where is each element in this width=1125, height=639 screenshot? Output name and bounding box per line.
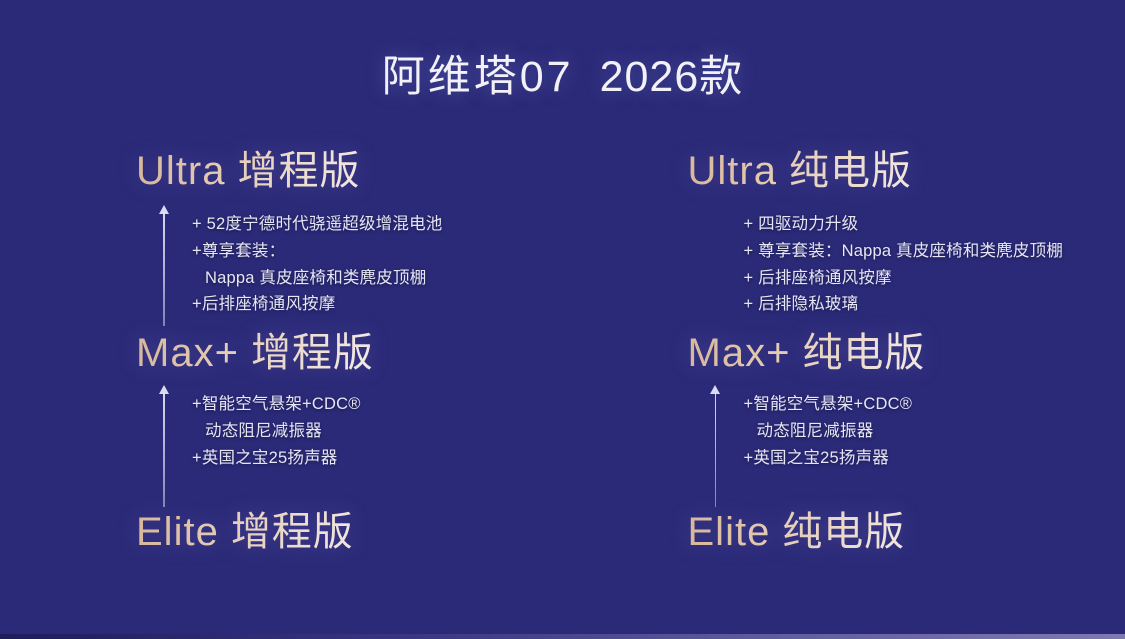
tier-name-ultra-ev: Ultra纯电版	[688, 148, 1125, 195]
tier-name-ultra-range: Ultra增程版	[136, 148, 563, 195]
tier-name-cn: 纯电版	[802, 331, 925, 375]
tier-name-cn: 增程版	[237, 149, 360, 193]
feature-list-ultra-ev: + 四驱动力升级+ 尊享套装：Nappa 真皮座椅和类麂皮顶棚+ 后排座椅通风按…	[688, 211, 1125, 318]
feature-list-max-plus-range: +智能空气悬架+CDC®动态阻尼减振器+英国之宝25扬声器	[136, 391, 563, 471]
feature-block-max-plus-ev: +智能空气悬架+CDC®动态阻尼减振器+英国之宝25扬声器	[688, 377, 1125, 509]
feature-item: 动态阻尼减振器	[744, 418, 1125, 445]
feature-block-ultra-ev: + 四驱动力升级+ 尊享套装：Nappa 真皮座椅和类麂皮顶棚+ 后排座椅通风按…	[688, 195, 1125, 328]
tier-name-max-plus-ev: Max+纯电版	[688, 330, 1125, 377]
feature-item: + 尊享套装：Nappa 真皮座椅和类麂皮顶棚	[744, 238, 1125, 265]
feature-item: +尊享套装：	[192, 238, 563, 265]
tier-name-en: Elite	[688, 510, 771, 554]
tier-spacer	[688, 556, 1125, 570]
tier-name-elite-range: Elite增程版	[136, 509, 563, 556]
page-title: 阿维塔072026款	[0, 42, 1125, 104]
feature-item: +智能空气悬架+CDC®	[192, 391, 563, 418]
tier-name-cn: 增程版	[231, 510, 354, 554]
feature-item: +英国之宝25扬声器	[192, 445, 563, 472]
feature-list-max-plus-ev: +智能空气悬架+CDC®动态阻尼减振器+英国之宝25扬声器	[688, 391, 1125, 471]
tier-ultra-ev[interactable]: Ultra纯电版+ 四驱动力升级+ 尊享套装：Nappa 真皮座椅和类麂皮顶棚+…	[688, 148, 1125, 328]
tier-name-en: Elite	[136, 510, 219, 554]
tier-name-en: Ultra	[688, 149, 777, 193]
tier-name-cn: 纯电版	[782, 510, 905, 554]
tier-name-en: Max+	[136, 331, 239, 375]
feature-item: + 52度宁德时代骁遥超级增混电池	[192, 211, 563, 238]
slide-root: 阿维塔072026款 Ultra增程版+ 52度宁德时代骁遥超级增混电池+尊享套…	[0, 0, 1125, 639]
page-title-model: 阿维塔07	[382, 53, 574, 101]
feature-block-max-plus-range: +智能空气悬架+CDC®动态阻尼减振器+英国之宝25扬声器	[136, 377, 563, 509]
tier-ultra-range[interactable]: Ultra增程版+ 52度宁德时代骁遥超级增混电池+尊享套装：Nappa 真皮座…	[136, 148, 563, 328]
feature-item: Nappa 真皮座椅和类麂皮顶棚	[192, 265, 563, 292]
column-range-extender: Ultra增程版+ 52度宁德时代骁遥超级增混电池+尊享套装：Nappa 真皮座…	[0, 148, 563, 618]
tier-max-plus-range[interactable]: Max+增程版+智能空气悬架+CDC®动态阻尼减振器+英国之宝25扬声器	[136, 330, 563, 509]
feature-item: 动态阻尼减振器	[192, 418, 563, 445]
feature-item: + 后排座椅通风按摩	[744, 265, 1125, 292]
tier-name-max-plus-range: Max+增程版	[136, 330, 563, 377]
feature-list-ultra-range: + 52度宁德时代骁遥超级增混电池+尊享套装：Nappa 真皮座椅和类麂皮顶棚+…	[136, 211, 563, 318]
tier-name-cn: 纯电版	[789, 149, 912, 193]
feature-item: +智能空气悬架+CDC®	[744, 391, 1125, 418]
tier-elite-ev[interactable]: Elite纯电版	[688, 509, 1125, 570]
feature-item: + 四驱动力升级	[744, 211, 1125, 238]
trim-comparison: Ultra增程版+ 52度宁德时代骁遥超级增混电池+尊享套装：Nappa 真皮座…	[0, 148, 1125, 618]
tier-name-elite-ev: Elite纯电版	[688, 509, 1125, 556]
tier-elite-range[interactable]: Elite增程版	[136, 509, 563, 570]
feature-item: +英国之宝25扬声器	[744, 445, 1125, 472]
tier-name-cn: 增程版	[251, 331, 374, 375]
tier-spacer	[136, 556, 563, 570]
tier-name-en: Max+	[688, 331, 791, 375]
feature-item: +后排座椅通风按摩	[192, 291, 563, 318]
feature-block-ultra-range: + 52度宁德时代骁遥超级增混电池+尊享套装：Nappa 真皮座椅和类麂皮顶棚+…	[136, 197, 563, 328]
page-title-year: 2026款	[600, 53, 744, 101]
tier-max-plus-ev[interactable]: Max+纯电版+智能空气悬架+CDC®动态阻尼减振器+英国之宝25扬声器	[688, 330, 1125, 509]
column-battery-electric: Ultra纯电版+ 四驱动力升级+ 尊享套装：Nappa 真皮座椅和类麂皮顶棚+…	[563, 148, 1125, 618]
feature-item: + 后排隐私玻璃	[744, 291, 1125, 318]
tier-name-en: Ultra	[136, 149, 225, 193]
